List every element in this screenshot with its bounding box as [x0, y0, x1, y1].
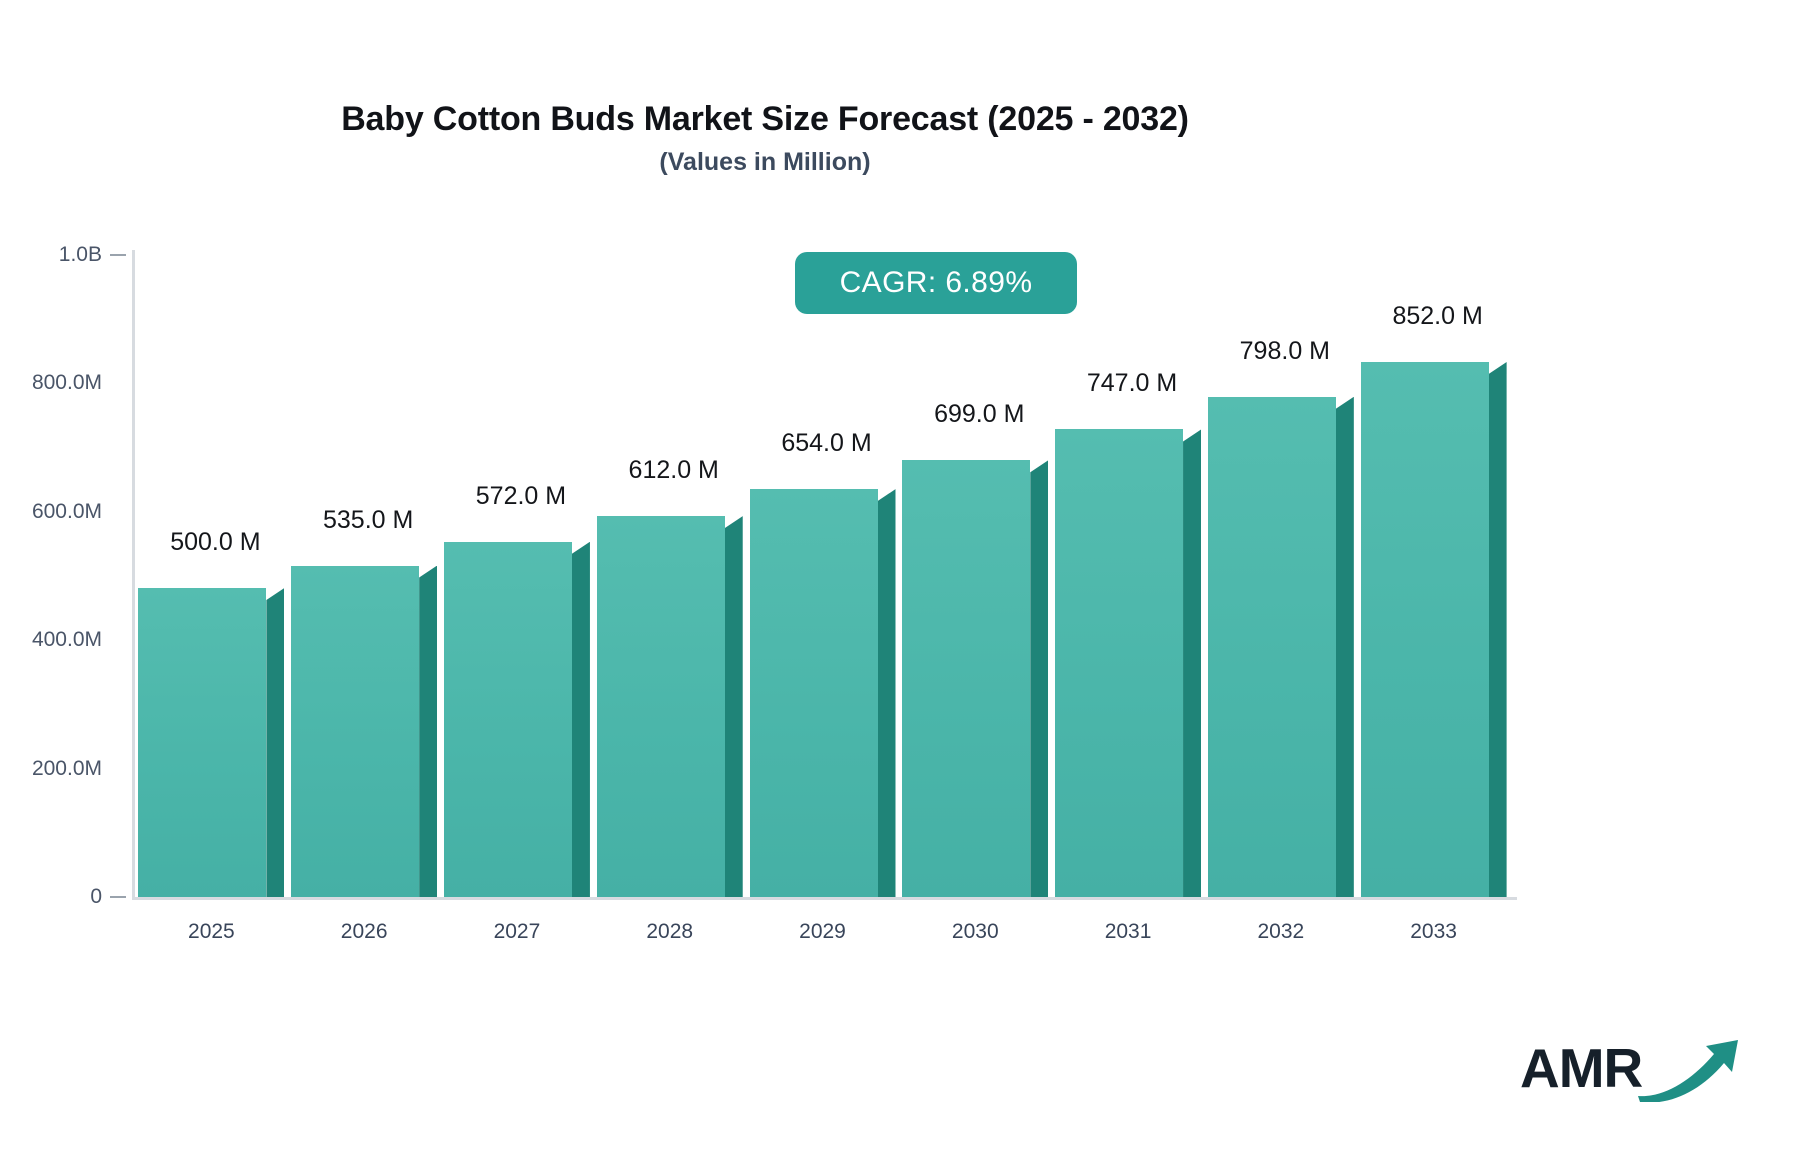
- bar-2031[interactable]: [1055, 417, 1183, 897]
- bar-2032[interactable]: [1208, 385, 1336, 897]
- x-axis-label-2032: 2032: [1257, 920, 1304, 944]
- bar-2026[interactable]: [291, 554, 419, 897]
- bar-side-face: [1183, 429, 1201, 897]
- bar-side-face: [419, 566, 437, 897]
- x-axis-label-2026: 2026: [341, 920, 388, 944]
- bar-side-face: [572, 542, 590, 897]
- growth-arrow-icon: [1634, 1036, 1744, 1107]
- bar-side-face: [725, 516, 743, 897]
- bar-2033[interactable]: [1361, 350, 1489, 897]
- x-axis-label-2030: 2030: [952, 920, 999, 944]
- x-axis-label-2031: 2031: [1105, 920, 1152, 944]
- bar-value-label: 535.0 M: [323, 506, 413, 535]
- bar-side-face: [1336, 397, 1354, 897]
- bar-2029[interactable]: [750, 477, 878, 897]
- bar-front-face: [750, 489, 878, 897]
- x-axis-label-2025: 2025: [188, 920, 235, 944]
- y-axis-tick-mark: [110, 254, 126, 256]
- bar-front-face: [291, 566, 419, 897]
- bar-side-face: [266, 588, 284, 897]
- bar-front-face: [902, 460, 1030, 897]
- bar-side-face: [878, 489, 896, 897]
- bar-front-face: [1208, 397, 1336, 897]
- bar-value-label: 852.0 M: [1392, 302, 1482, 331]
- x-axis-label-2028: 2028: [646, 920, 693, 944]
- bar-value-label: 612.0 M: [629, 456, 719, 485]
- bar-front-face: [444, 542, 572, 897]
- bar-2030[interactable]: [902, 448, 1030, 897]
- amr-logo: AMR: [1520, 1030, 1744, 1107]
- bar-value-label: 500.0 M: [170, 528, 260, 557]
- bar-value-label: 654.0 M: [781, 429, 871, 458]
- bars-layer: 500.0 M2025535.0 M2026572.0 M2027612.0 M…: [0, 0, 1800, 1156]
- bar-2028[interactable]: [597, 504, 725, 897]
- bar-front-face: [597, 516, 725, 897]
- bar-side-face: [1489, 362, 1507, 897]
- bar-value-label: 572.0 M: [476, 482, 566, 511]
- bar-front-face: [1055, 429, 1183, 897]
- x-axis-label-2029: 2029: [799, 920, 846, 944]
- bar-2025[interactable]: [138, 576, 266, 897]
- y-axis-tick-mark: [110, 896, 126, 898]
- x-axis-label-2033: 2033: [1410, 920, 1457, 944]
- bar-2027[interactable]: [444, 530, 572, 897]
- logo-text: AMR: [1520, 1041, 1642, 1096]
- bar-front-face: [138, 588, 266, 897]
- bar-value-label: 798.0 M: [1240, 337, 1330, 366]
- bar-value-label: 747.0 M: [1087, 369, 1177, 398]
- bar-front-face: [1361, 362, 1489, 897]
- x-axis-label-2027: 2027: [494, 920, 541, 944]
- bar-side-face: [1030, 460, 1048, 897]
- bar-value-label: 699.0 M: [934, 400, 1024, 429]
- chart-page: Baby Cotton Buds Market Size Forecast (2…: [0, 0, 1800, 1156]
